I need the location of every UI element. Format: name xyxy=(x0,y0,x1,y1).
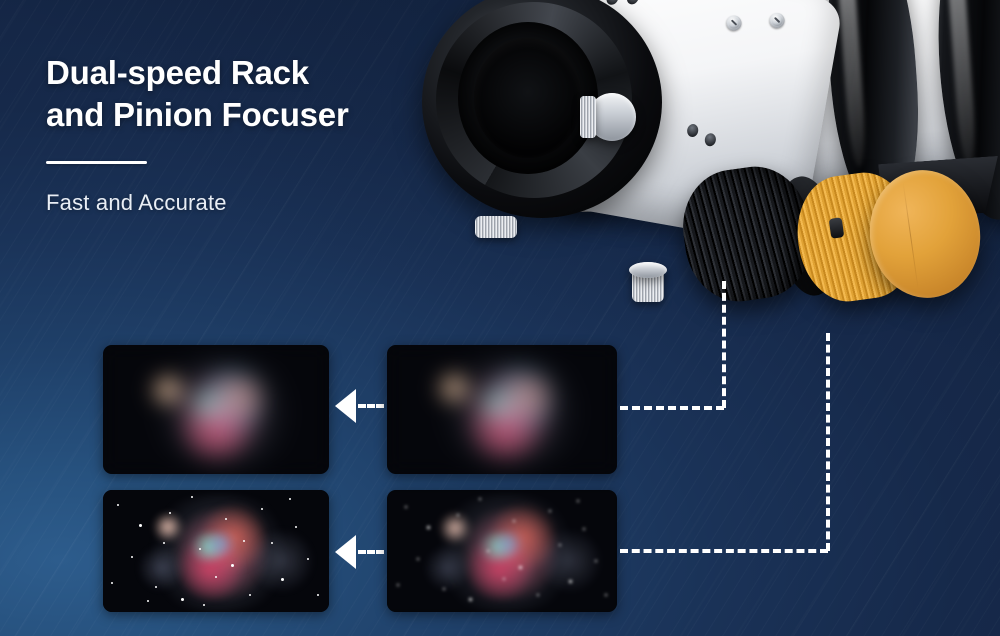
arrow-dash-row1 xyxy=(358,404,384,408)
near-sharp-nebula-fine xyxy=(387,490,617,612)
list-item[interactable] xyxy=(103,490,329,612)
body-port-2 xyxy=(704,132,717,147)
blurred-nebula-coarse xyxy=(103,345,329,474)
fine-knob-callout-vertical xyxy=(826,333,830,551)
body-screw-2 xyxy=(768,12,785,29)
side-tension-knurl xyxy=(580,96,596,138)
star-field-near-sharp xyxy=(387,490,617,612)
star-field-sharp xyxy=(103,490,329,612)
page-title: Dual-speed Rack and Pinion Focuser xyxy=(46,52,476,135)
knob-set-screw xyxy=(829,217,845,239)
fine-knob-callout-horizontal xyxy=(620,549,828,553)
body-port-1 xyxy=(686,123,699,138)
promo-banner: Dual-speed Rack and Pinion Focuser Fast … xyxy=(0,0,1000,636)
arrow-dash-row2 xyxy=(358,550,384,554)
left-arrow-icon-row1 xyxy=(335,389,356,423)
list-item[interactable] xyxy=(103,345,329,474)
bottom-thumbscrew xyxy=(475,216,517,238)
lower-lock-cap xyxy=(629,262,667,278)
eyepiece-bore-inner xyxy=(474,38,582,158)
sharp-nebula-fine xyxy=(103,490,329,612)
body-screw-1 xyxy=(725,14,742,31)
title-divider xyxy=(46,161,147,164)
slightly-sharper-nebula-coarse xyxy=(387,345,617,474)
list-item[interactable] xyxy=(387,345,617,474)
page-subtitle: Fast and Accurate xyxy=(46,190,476,216)
headline-block: Dual-speed Rack and Pinion Focuser Fast … xyxy=(46,52,476,216)
left-arrow-icon-row2 xyxy=(335,535,356,569)
coarse-knob-callout-vertical xyxy=(722,281,726,408)
body-port-4 xyxy=(625,0,641,7)
coarse-knob-callout-horizontal xyxy=(620,406,724,410)
list-item[interactable] xyxy=(387,490,617,612)
telescope-illustration xyxy=(400,0,1000,398)
